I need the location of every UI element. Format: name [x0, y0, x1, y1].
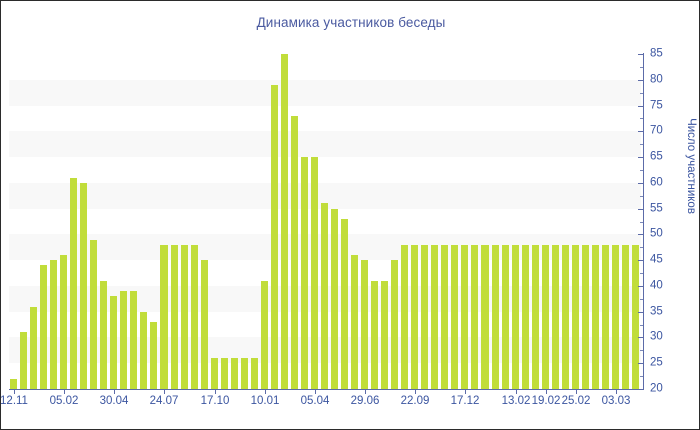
bar — [251, 358, 258, 389]
bar — [371, 281, 378, 389]
bar — [181, 245, 188, 389]
x-axis-tick — [14, 390, 15, 394]
bar — [632, 245, 639, 389]
x-axis-tick — [546, 390, 547, 394]
x-axis-label: 17.10 — [201, 396, 230, 408]
y-axis-label: 80 — [650, 74, 663, 86]
y-axis-label: 85 — [650, 48, 663, 60]
bar — [391, 260, 398, 389]
chart-page: Динамика участников беседы Число участни… — [0, 0, 700, 430]
y-axis-tick — [638, 131, 643, 132]
bar — [321, 203, 328, 389]
y-axis-minor-tick — [640, 144, 643, 145]
y-axis-label: 30 — [650, 331, 663, 343]
x-axis-label: 12.11 — [0, 396, 28, 408]
x-axis-label: 17.12 — [451, 396, 480, 408]
x-axis-tick — [164, 390, 165, 394]
bar — [532, 245, 539, 389]
y-axis-tick — [638, 106, 643, 107]
bar — [211, 358, 218, 389]
x-axis-tick — [265, 390, 266, 394]
y-axis-label: 35 — [650, 306, 663, 318]
bar — [481, 245, 488, 389]
bar — [130, 291, 137, 389]
y-axis-tick — [638, 312, 643, 313]
bar — [612, 245, 619, 389]
bar — [341, 219, 348, 389]
y-axis-label: 65 — [650, 151, 663, 163]
y-axis-minor-tick — [640, 196, 643, 197]
bar — [301, 157, 308, 389]
y-axis-title: Число участников — [685, 118, 697, 214]
bar — [10, 379, 17, 389]
bar — [502, 245, 509, 389]
bar — [20, 332, 27, 389]
y-axis-tick — [638, 389, 643, 390]
bar — [602, 245, 609, 389]
bar — [291, 116, 298, 389]
y-axis-minor-tick — [640, 222, 643, 223]
y-axis-label: 50 — [650, 228, 663, 240]
bar — [351, 255, 358, 389]
y-axis-minor-tick — [640, 170, 643, 171]
bar — [140, 312, 147, 389]
y-axis-minor-tick — [640, 350, 643, 351]
x-axis-line — [9, 389, 643, 390]
x-axis-tick — [315, 390, 316, 394]
bar — [110, 296, 117, 389]
bar — [361, 260, 368, 389]
y-axis-line — [643, 53, 644, 390]
bar — [451, 245, 458, 389]
y-axis-label: 20 — [650, 383, 663, 395]
bar — [542, 245, 549, 389]
y-axis-label: 60 — [650, 177, 663, 189]
bar — [421, 245, 428, 389]
x-axis-label: 25.02 — [562, 396, 591, 408]
y-axis-label: 55 — [650, 203, 663, 215]
bar — [431, 245, 438, 389]
bar — [201, 260, 208, 389]
y-axis-minor-tick — [640, 376, 643, 377]
bar — [171, 245, 178, 389]
y-axis-minor-tick — [640, 247, 643, 248]
x-axis-tick — [465, 390, 466, 394]
plot-area — [9, 54, 641, 389]
bar — [411, 245, 418, 389]
bar — [60, 255, 67, 389]
x-axis-tick — [215, 390, 216, 394]
y-axis-label: 25 — [650, 357, 663, 369]
x-axis-label: 13.02 — [502, 396, 531, 408]
x-axis-label: 05.04 — [301, 396, 330, 408]
x-axis-tick — [365, 390, 366, 394]
y-axis-tick — [638, 234, 643, 235]
bar — [562, 245, 569, 389]
bar — [221, 358, 228, 389]
y-axis-minor-tick — [640, 93, 643, 94]
y-axis-minor-tick — [640, 118, 643, 119]
page-title: Динамика участников беседы — [1, 15, 700, 30]
bar — [381, 281, 388, 389]
x-axis-tick — [415, 390, 416, 394]
bar — [120, 291, 127, 389]
y-axis-minor-tick — [640, 325, 643, 326]
bar-series — [9, 54, 641, 389]
y-axis-label: 70 — [650, 125, 663, 137]
bar — [311, 157, 318, 389]
y-axis-label: 45 — [650, 254, 663, 266]
y-axis-label: 40 — [650, 280, 663, 292]
bar — [572, 245, 579, 389]
x-axis-tick — [576, 390, 577, 394]
y-axis-minor-tick — [640, 273, 643, 274]
y-axis-minor-tick — [640, 67, 643, 68]
bar — [492, 245, 499, 389]
x-axis-label: 03.03 — [602, 396, 631, 408]
y-axis-tick — [638, 260, 643, 261]
x-axis-label: 10.01 — [251, 396, 280, 408]
bar — [592, 245, 599, 389]
bar — [261, 281, 268, 389]
bar — [281, 54, 288, 389]
y-axis-minor-tick — [640, 299, 643, 300]
bar — [70, 178, 77, 389]
bar — [512, 245, 519, 389]
bar — [50, 260, 57, 389]
bar — [552, 245, 559, 389]
bar — [30, 307, 37, 389]
y-axis-label: 75 — [650, 100, 663, 112]
x-axis-tick — [516, 390, 517, 394]
x-axis-tick — [114, 390, 115, 394]
bar — [522, 245, 529, 389]
y-axis-tick — [638, 337, 643, 338]
bar — [90, 240, 97, 389]
bar — [191, 245, 198, 389]
y-axis-tick — [638, 286, 643, 287]
bar — [582, 245, 589, 389]
y-axis-tick — [638, 80, 643, 81]
bar — [331, 209, 338, 389]
x-axis-label: 22.09 — [401, 396, 430, 408]
y-axis-tick — [638, 157, 643, 158]
bar — [100, 281, 107, 389]
bar — [80, 183, 87, 389]
x-axis-tick — [616, 390, 617, 394]
x-axis-label: 19.02 — [532, 396, 561, 408]
bar — [271, 85, 278, 389]
x-axis-label: 30.04 — [100, 396, 129, 408]
x-axis-label: 29.06 — [351, 396, 380, 408]
y-axis-tick — [638, 363, 643, 364]
bar — [231, 358, 238, 389]
x-axis-tick — [64, 390, 65, 394]
bar — [241, 358, 248, 389]
y-axis-tick — [638, 183, 643, 184]
x-axis-label: 24.07 — [150, 396, 179, 408]
y-axis-tick — [638, 209, 643, 210]
bar — [40, 265, 47, 389]
bar — [441, 245, 448, 389]
bar — [471, 245, 478, 389]
bar — [401, 245, 408, 389]
bar — [150, 322, 157, 389]
bar — [461, 245, 468, 389]
bar — [160, 245, 167, 389]
x-axis-label: 05.02 — [50, 396, 79, 408]
bar — [622, 245, 629, 389]
y-axis-tick — [638, 54, 643, 55]
